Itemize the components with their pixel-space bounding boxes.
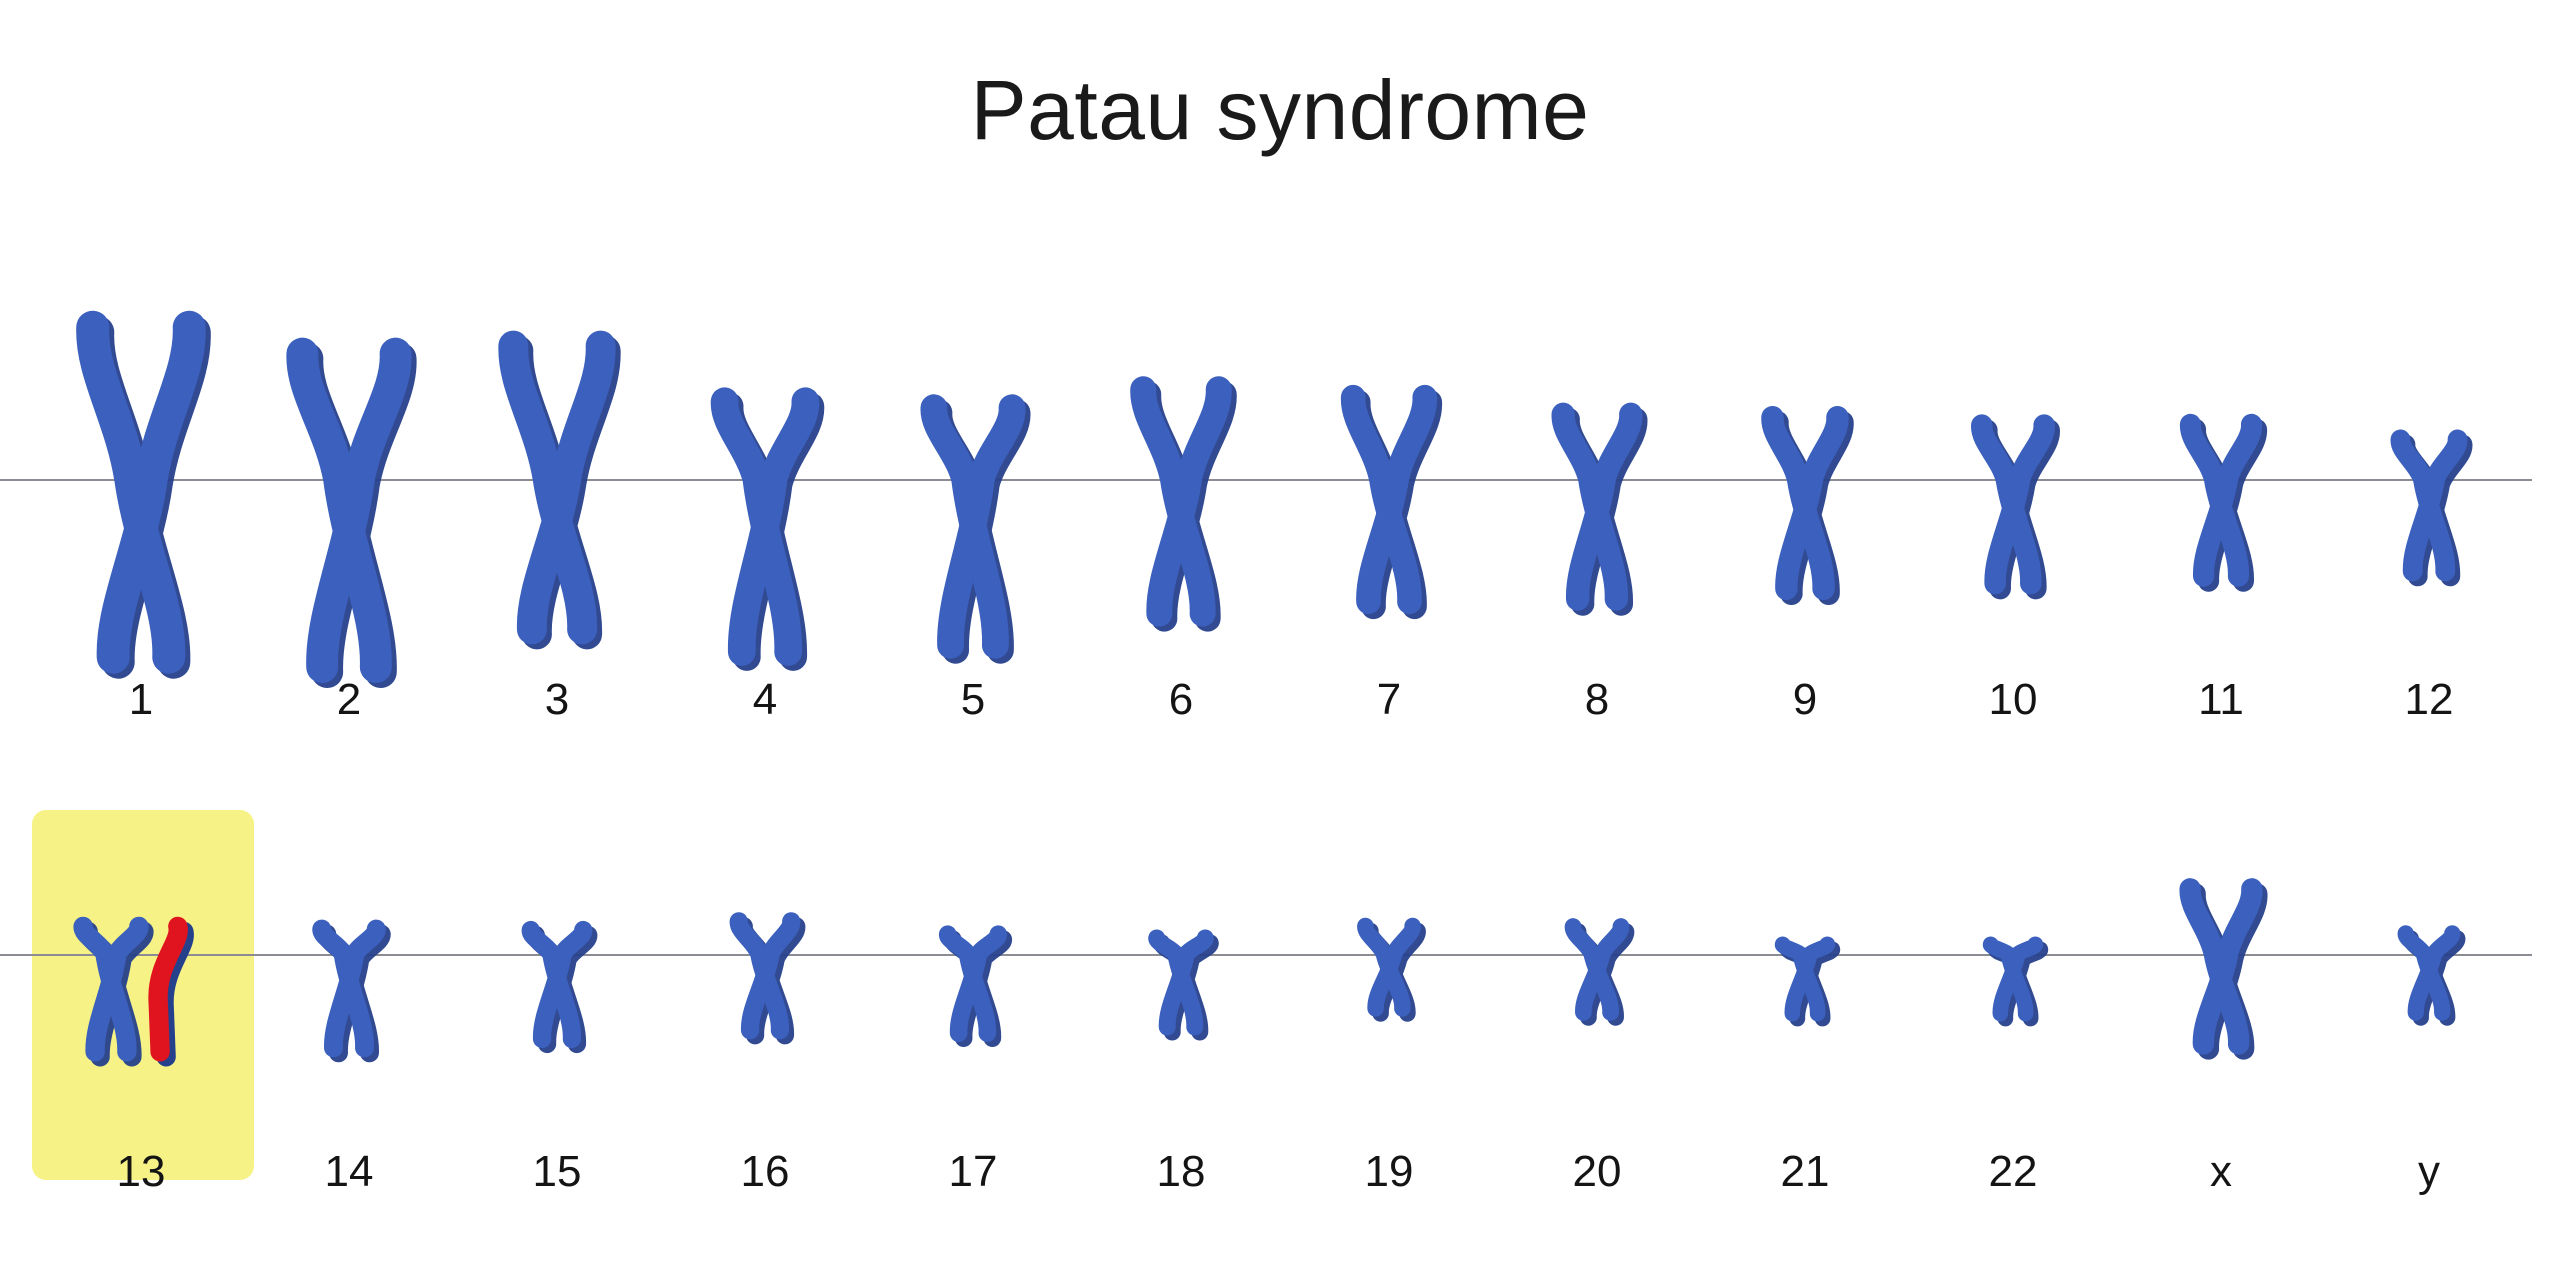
- chromosome-glyph-3: [462, 330, 652, 640]
- chromosome-glyph-15: [462, 810, 652, 1120]
- chromosome-cell-2[interactable]: 2: [254, 330, 444, 640]
- chromosome-label-14: 14: [254, 1150, 444, 1194]
- chromosome-cell-20[interactable]: 20: [1502, 810, 1692, 1120]
- chromosome-cell-15[interactable]: 15: [462, 810, 652, 1120]
- chromosome-glyph-11: [2126, 330, 2316, 640]
- chromosome-label-y: y: [2334, 1150, 2524, 1194]
- chromosome-cell-18[interactable]: 18: [1086, 810, 1276, 1120]
- chromosome-label-9: 9: [1710, 678, 1900, 722]
- chromosome-label-x: x: [2126, 1150, 2316, 1194]
- karyotype-diagram: Patau syndrome 123456789101112 131415161…: [0, 0, 2560, 1280]
- chromosome-glyph-13: [46, 810, 236, 1120]
- chromosome-cell-4[interactable]: 4: [670, 330, 860, 640]
- chromosome-cell-13[interactable]: 13: [46, 810, 236, 1120]
- chromosome-cell-22[interactable]: 22: [1918, 810, 2108, 1120]
- chromosome-cell-5[interactable]: 5: [878, 330, 1068, 640]
- chromosome-glyph-4: [670, 330, 860, 640]
- chromosome-glyph-17: [878, 810, 1068, 1120]
- chromosome-label-10: 10: [1918, 678, 2108, 722]
- chromosome-glyph-19: [1294, 810, 1484, 1120]
- chromosome-label-21: 21: [1710, 1150, 1900, 1194]
- chromosome-label-5: 5: [878, 678, 1068, 722]
- chromosome-cell-9[interactable]: 9: [1710, 330, 1900, 640]
- chromosome-glyph-12: [2334, 330, 2524, 640]
- chromosome-cell-6[interactable]: 6: [1086, 330, 1276, 640]
- chromosome-cell-16[interactable]: 16: [670, 810, 860, 1120]
- chromosome-cell-3[interactable]: 3: [462, 330, 652, 640]
- chromosome-glyph-22: [1918, 810, 2108, 1120]
- chromosome-row-1: 123456789101112: [0, 330, 2560, 730]
- chromosome-glyph-5: [878, 330, 1068, 640]
- chromosome-label-15: 15: [462, 1150, 652, 1194]
- chromosome-label-8: 8: [1502, 678, 1692, 722]
- chromosome-cell-14[interactable]: 14: [254, 810, 444, 1120]
- page-title: Patau syndrome: [0, 62, 2560, 159]
- chromosome-cell-19[interactable]: 19: [1294, 810, 1484, 1120]
- chromosome-label-22: 22: [1918, 1150, 2108, 1194]
- chromosome-glyph-14: [254, 810, 444, 1120]
- chromosome-label-19: 19: [1294, 1150, 1484, 1194]
- chromosome-glyph-10: [1918, 330, 2108, 640]
- chromosome-glyph-2: [254, 330, 444, 640]
- chromosome-label-11: 11: [2126, 678, 2316, 722]
- chromosome-label-1: 1: [46, 678, 236, 722]
- chromosome-label-4: 4: [670, 678, 860, 722]
- chromosome-cell-y[interactable]: y: [2334, 810, 2524, 1120]
- chromosome-label-3: 3: [462, 678, 652, 722]
- chromosome-glyph-16: [670, 810, 860, 1120]
- chromosome-label-17: 17: [878, 1150, 1068, 1194]
- chromosome-label-20: 20: [1502, 1150, 1692, 1194]
- chromosome-label-7: 7: [1294, 678, 1484, 722]
- chromosome-cell-8[interactable]: 8: [1502, 330, 1692, 640]
- chromosome-label-2: 2: [254, 678, 444, 722]
- chromosome-cell-1[interactable]: 1: [46, 330, 236, 640]
- chromosome-glyph-18: [1086, 810, 1276, 1120]
- chromosome-glyph-x: [2126, 810, 2316, 1120]
- chromosome-glyph-20: [1502, 810, 1692, 1120]
- chromosome-glyph-9: [1710, 330, 1900, 640]
- chromosome-cell-11[interactable]: 11: [2126, 330, 2316, 640]
- chromosome-cell-x[interactable]: x: [2126, 810, 2316, 1120]
- chromosome-glyph-8: [1502, 330, 1692, 640]
- chromosome-cell-17[interactable]: 17: [878, 810, 1068, 1120]
- chromosome-label-6: 6: [1086, 678, 1276, 722]
- chromosome-glyph-7: [1294, 330, 1484, 640]
- chromosome-glyph-1: [46, 330, 236, 640]
- chromosome-label-13: 13: [46, 1150, 236, 1194]
- chromosome-row-2: 13141516171819202122xy: [0, 810, 2560, 1210]
- chromosome-label-18: 18: [1086, 1150, 1276, 1194]
- chromosome-cell-7[interactable]: 7: [1294, 330, 1484, 640]
- chromosome-glyph-6: [1086, 330, 1276, 640]
- chromosome-glyph-21: [1710, 810, 1900, 1120]
- chromosome-cell-21[interactable]: 21: [1710, 810, 1900, 1120]
- chromosome-label-16: 16: [670, 1150, 860, 1194]
- chromosome-glyph-y: [2334, 810, 2524, 1120]
- chromosome-cell-10[interactable]: 10: [1918, 330, 2108, 640]
- chromosome-cell-12[interactable]: 12: [2334, 330, 2524, 640]
- chromosome-label-12: 12: [2334, 678, 2524, 722]
